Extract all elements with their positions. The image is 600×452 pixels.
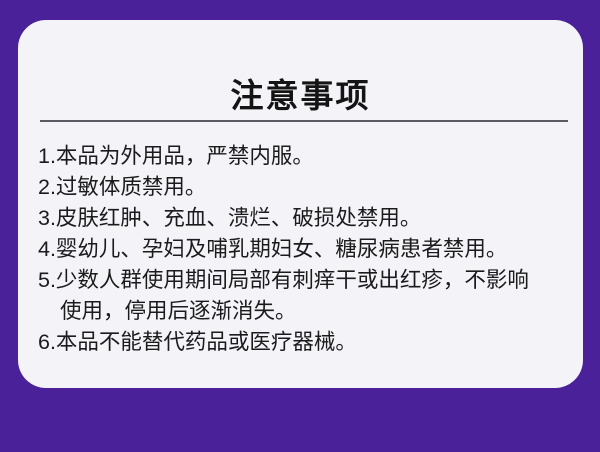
page-title: 注意事项	[18, 76, 583, 116]
notice-line: 1.本品为外用品，严禁内服。	[38, 141, 583, 172]
notice-line: 使用，停用后逐渐消失。	[38, 296, 583, 327]
notice-line: 2.过敏体质禁用。	[38, 172, 583, 203]
notice-line: 4.婴幼儿、孕妇及哺乳期妇女、糖尿病患者禁用。	[38, 234, 583, 265]
purple-frame: 注意事项 1.本品为外用品，严禁内服。2.过敏体质禁用。3.皮肤红肿、充血、溃烂…	[0, 0, 600, 452]
notice-line: 6.本品不能替代药品或医疗器械。	[38, 327, 583, 358]
notice-list: 1.本品为外用品，严禁内服。2.过敏体质禁用。3.皮肤红肿、充血、溃烂、破损处禁…	[38, 141, 583, 358]
notice-line: 5.少数人群使用期间局部有刺痒干或出红疹，不影响	[38, 265, 583, 296]
title-divider	[40, 120, 568, 122]
notice-line: 3.皮肤红肿、充血、溃烂、破损处禁用。	[38, 203, 583, 234]
notice-card: 注意事项 1.本品为外用品，严禁内服。2.过敏体质禁用。3.皮肤红肿、充血、溃烂…	[18, 20, 583, 388]
